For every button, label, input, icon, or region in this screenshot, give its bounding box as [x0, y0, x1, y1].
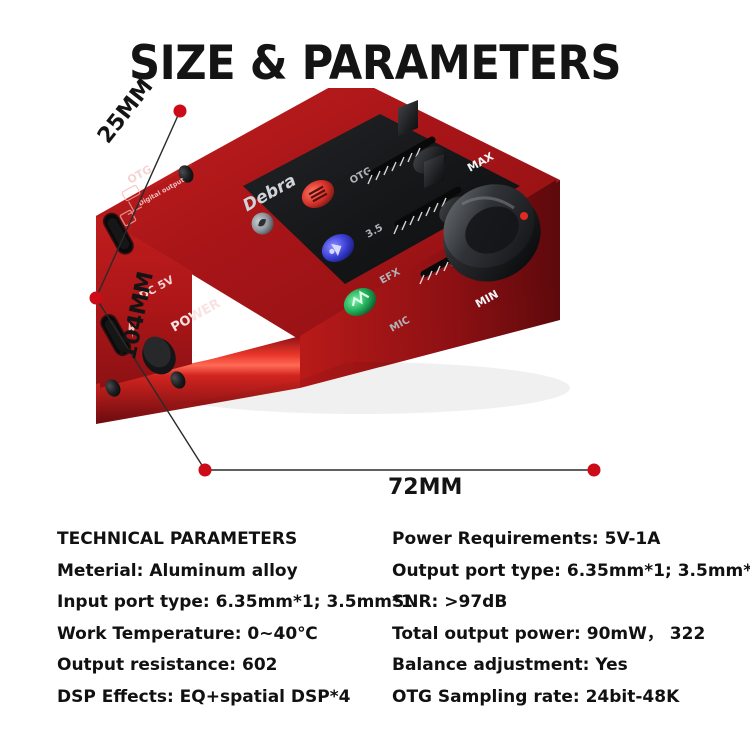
- product-illustration: OTG Digital output DC 5V POWER Debra OTG…: [0, 88, 750, 498]
- dimension-dot: [588, 464, 601, 477]
- knob-indicator-dot: [520, 212, 528, 220]
- dimension-dot: [174, 105, 187, 118]
- spec-row: OTG Sampling rate: 24bit-48K: [392, 682, 742, 714]
- dimension-dot: [199, 464, 212, 477]
- dimension-label-width: 72MM: [388, 475, 462, 500]
- spec-row: TECHNICAL PARAMETERS: [57, 524, 397, 556]
- technical-specifications: TECHNICAL PARAMETERS Meterial: Aluminum …: [0, 524, 750, 714]
- spec-row: SNR: >97dB: [392, 587, 742, 619]
- spec-row: Input port type: 6.35mm*1; 3.5mm*1: [57, 587, 397, 619]
- spec-row: Output resistance: 602: [57, 650, 397, 682]
- spec-row: Balance adjustment: Yes: [392, 650, 742, 682]
- spec-row: Power Requirements: 5V-1A: [392, 524, 742, 556]
- spec-row: Total output power: 90mW， 322: [392, 619, 742, 651]
- spec-row: Work Temperature: 0~40℃: [57, 619, 397, 651]
- port-label-otg: OTG: [125, 163, 154, 187]
- spec-row: Meterial: Aluminum alloy: [57, 556, 397, 588]
- spec-row: DSP Effects: EQ+spatial DSP*4: [57, 682, 397, 714]
- spec-row: Output port type: 6.35mm*1; 3.5mm*1: [392, 556, 742, 588]
- spec-column-right: Power Requirements: 5V-1A Output port ty…: [392, 524, 742, 713]
- spec-column-left: TECHNICAL PARAMETERS Meterial: Aluminum …: [57, 524, 397, 713]
- dimension-dot: [90, 292, 103, 305]
